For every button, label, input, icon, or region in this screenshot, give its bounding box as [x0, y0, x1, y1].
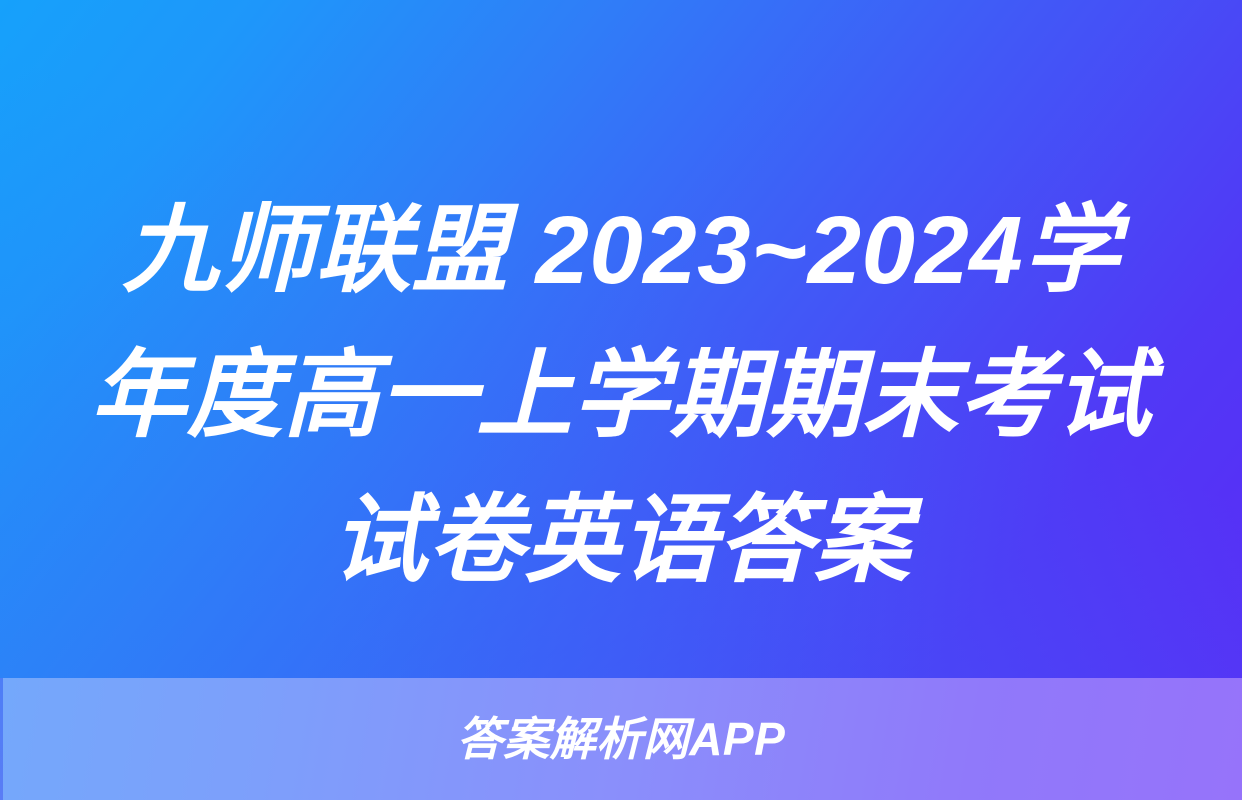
watermark-label: 答案解析网APP	[457, 716, 786, 762]
title-line-3: 试卷英语答案	[26, 468, 1216, 613]
title-line-1: 九师联盟 2023~2024学	[26, 178, 1216, 323]
page-title: 九师联盟 2023~2024学 年度高一上学期期末考试 试卷英语答案	[0, 178, 1242, 613]
watermark-bar: 答案解析网APP	[0, 678, 1242, 800]
exam-cover-card: 九师联盟 2023~2024学 年度高一上学期期末考试 试卷英语答案 答案解析网…	[0, 0, 1242, 800]
title-line-2: 年度高一上学期期末考试	[26, 323, 1216, 468]
